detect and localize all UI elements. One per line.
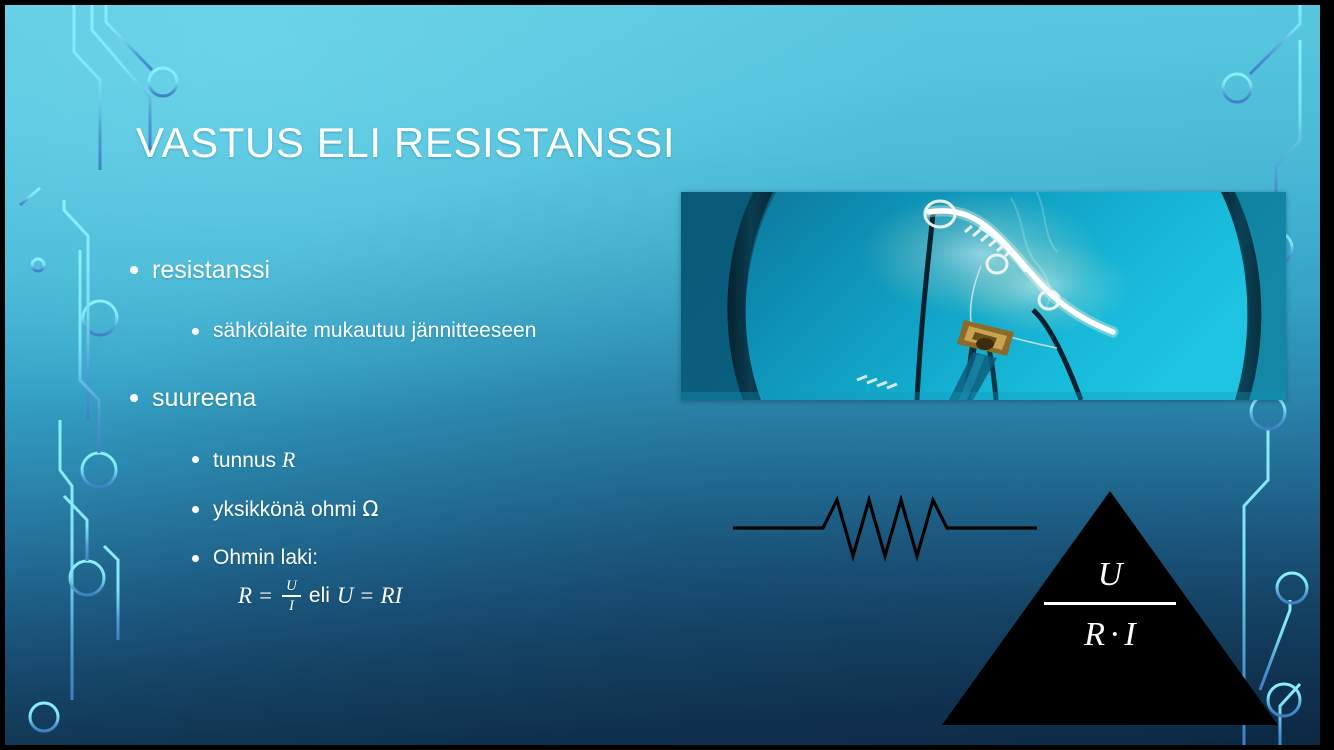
- bullet-suureena: suureena: [130, 383, 690, 414]
- slide-frame-right: [1320, 0, 1334, 750]
- bullet-label: tunnus R: [213, 446, 295, 474]
- formula-numerator: U: [282, 578, 301, 595]
- bullet-label: resistanssi: [152, 255, 270, 286]
- triangle-fraction-bar: [1044, 602, 1176, 605]
- slide-body-content: resistanssi sähkölaite mukautuu jännitte…: [130, 255, 690, 614]
- formula-fraction: U I: [282, 578, 301, 615]
- slide-frame-left: [0, 0, 5, 750]
- ohms-law-triangle: U R·I: [940, 487, 1280, 732]
- bullet-marker-icon: [192, 456, 199, 463]
- bullet-label: yksikkönä ohmi Ω: [213, 496, 378, 523]
- bullet-yksikkona-ohmi: yksikkönä ohmi Ω: [192, 496, 690, 523]
- bullet-resistanssi: resistanssi: [130, 255, 690, 286]
- formula-conjunction: eli: [309, 584, 330, 608]
- bullet-label: sähkölaite mukautuu jännitteeseen: [213, 318, 536, 344]
- bullet-label: Ohmin laki:: [213, 545, 318, 571]
- bullet-tunnus-r: tunnus R: [192, 446, 690, 474]
- ohms-law-formula: R = U I eli U = RI: [238, 578, 690, 615]
- formula-denominator: I: [285, 598, 298, 615]
- formula-equals: =: [259, 583, 272, 609]
- symbol-ohm-omega: Ω: [362, 497, 378, 521]
- bullet-group-spacer: [130, 367, 690, 383]
- bullet-marker-icon: [130, 266, 138, 274]
- lightbulb-filament-illustration: [681, 192, 1286, 400]
- bullet-marker-icon: [130, 394, 138, 402]
- symbol-resistance-r: R: [282, 447, 295, 472]
- formula-rhs-lhs: U: [337, 583, 354, 609]
- bullet-sahkolaite-mukautuu-jannitteeseen: sähkölaite mukautuu jännitteeseen: [192, 318, 690, 344]
- triangle-formula: U R·I: [940, 555, 1280, 654]
- triangle-numerator: U: [940, 555, 1280, 594]
- slide-title: VASTUS ELI RESISTANSSI: [136, 120, 675, 166]
- formula-lhs: R: [238, 583, 252, 609]
- formula-fraction-bar: [282, 595, 301, 597]
- formula-rhs: RI: [381, 583, 403, 609]
- triangle-multiplication-dot: ·: [1105, 616, 1124, 653]
- lightbulb-filament-photo: [681, 192, 1286, 400]
- bullet-marker-icon: [192, 555, 199, 562]
- formula-rhs-equals: =: [361, 583, 374, 609]
- bullet-label-prefix: yksikkönä ohmi: [213, 498, 362, 521]
- bullet-ohmin-laki: Ohmin laki:: [192, 545, 690, 571]
- triangle-denominator-left: R: [1084, 616, 1105, 653]
- bullet-marker-icon: [192, 328, 199, 335]
- triangle-denominator: R·I: [940, 615, 1280, 654]
- bullet-label-prefix: tunnus: [213, 449, 282, 472]
- bullet-marker-icon: [192, 506, 199, 513]
- bullet-label: suureena: [152, 383, 256, 414]
- presentation-slide: VASTUS ELI RESISTANSSI resistanssi sähkö…: [0, 0, 1334, 750]
- triangle-denominator-right: I: [1124, 616, 1135, 653]
